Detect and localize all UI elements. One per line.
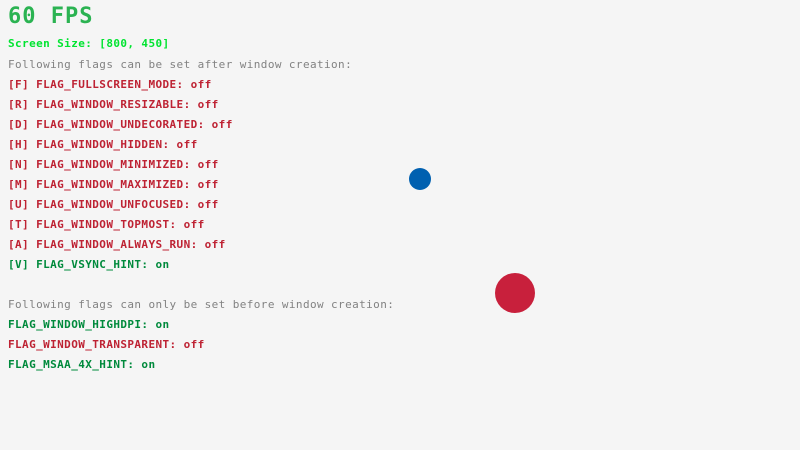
section-header-before-creation: Following flags can only be set before w… (8, 299, 394, 310)
flag-row-flag-window-topmost[interactable]: [T] FLAG_WINDOW_TOPMOST: off (8, 219, 205, 230)
flag-row-flag-window-resizable[interactable]: [R] FLAG_WINDOW_RESIZABLE: off (8, 99, 219, 110)
bouncing-ball-red (495, 273, 535, 313)
flag-row-flag-window-maximized[interactable]: [M] FLAG_WINDOW_MAXIMIZED: off (8, 179, 219, 190)
flag-row-flag-window-always-run[interactable]: [A] FLAG_WINDOW_ALWAYS_RUN: off (8, 239, 226, 250)
flag-row-flag-msaa-4x-hint[interactable]: FLAG_MSAA_4X_HINT: on (8, 359, 155, 370)
flag-row-flag-window-unfocused[interactable]: [U] FLAG_WINDOW_UNFOCUSED: off (8, 199, 219, 210)
raylib-window-flags-demo: 60 FPS Screen Size: [800, 450] Following… (0, 0, 800, 450)
section-header-after-creation: Following flags can be set after window … (8, 59, 352, 70)
flag-row-flag-vsync-hint[interactable]: [V] FLAG_VSYNC_HINT: on (8, 259, 170, 270)
flag-row-flag-window-transparent[interactable]: FLAG_WINDOW_TRANSPARENT: off (8, 339, 205, 350)
flag-row-flag-window-undecorated[interactable]: [D] FLAG_WINDOW_UNDECORATED: off (8, 119, 233, 130)
flag-row-flag-window-minimized[interactable]: [N] FLAG_WINDOW_MINIMIZED: off (8, 159, 219, 170)
flag-row-flag-window-hidden[interactable]: [H] FLAG_WINDOW_HIDDEN: off (8, 139, 198, 150)
flag-row-flag-window-highdpi[interactable]: FLAG_WINDOW_HIGHDPI: on (8, 319, 170, 330)
screen-size-label: Screen Size: [800, 450] (8, 38, 170, 49)
flag-row-flag-fullscreen-mode[interactable]: [F] FLAG_FULLSCREEN_MODE: off (8, 79, 212, 90)
fps-counter: 60 FPS (8, 6, 93, 28)
bouncing-ball-blue (409, 168, 431, 190)
